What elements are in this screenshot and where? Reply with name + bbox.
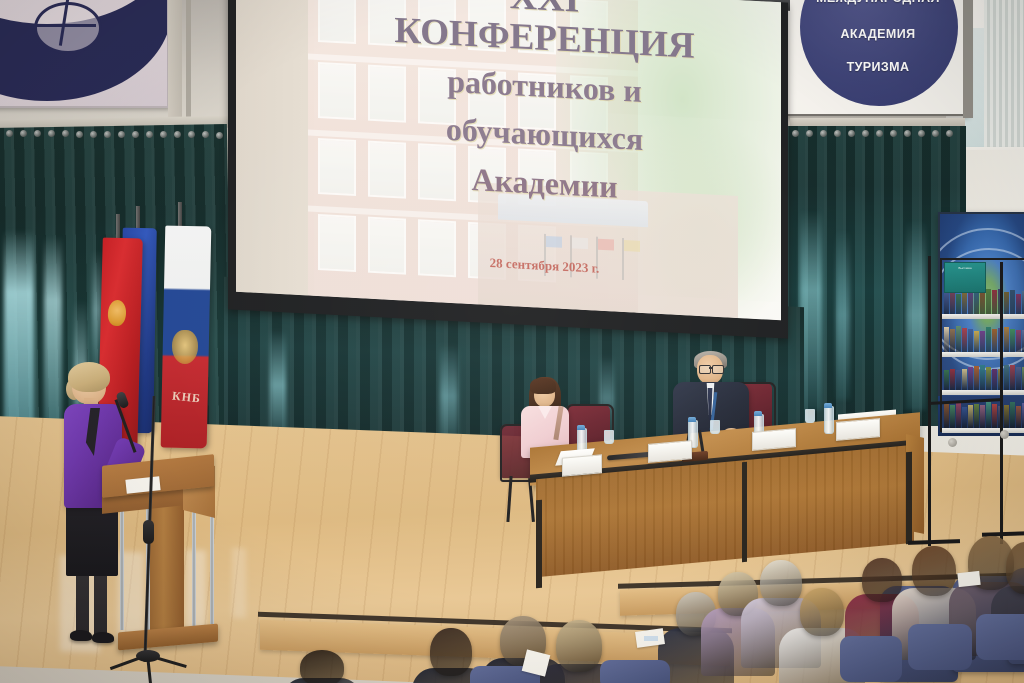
book-spine xyxy=(986,367,991,390)
presidium-table-leg xyxy=(536,500,542,589)
audience-seat-arm xyxy=(908,624,972,670)
microphone-stand-clamp xyxy=(143,520,154,544)
curtain-grommet xyxy=(6,130,13,137)
book-row xyxy=(944,364,1024,390)
book-spine xyxy=(968,291,973,314)
curtain-grommet xyxy=(932,130,939,137)
slide-line-4: Академии xyxy=(308,152,781,214)
book-spine xyxy=(950,369,955,390)
book-spine xyxy=(956,294,961,314)
book-spine xyxy=(944,404,949,428)
display-stand-pole xyxy=(1000,262,1003,544)
curtain-grommet xyxy=(904,130,911,137)
screen-unlit-margin xyxy=(236,0,314,296)
audience-head xyxy=(800,588,844,636)
book-shelf xyxy=(942,390,1024,395)
book-spine xyxy=(974,292,979,314)
audience-seat-arm xyxy=(976,614,1024,660)
book-spine xyxy=(1016,294,1021,314)
book-spine xyxy=(1010,402,1015,428)
conference-hall-photo: МЕЖДУНАРОДНАЯ АКАДЕМИЯ ТУРИЗМА XXI xyxy=(0,0,1024,683)
book-spine xyxy=(992,290,997,314)
window-light-glow xyxy=(270,330,286,441)
book-shelf xyxy=(942,314,1024,319)
curtain-grommet xyxy=(862,130,869,137)
book-spine xyxy=(950,405,955,428)
book-row xyxy=(944,402,1024,428)
book-spine xyxy=(980,290,985,314)
book-row xyxy=(944,326,1024,352)
floor-reflection xyxy=(186,550,206,637)
book-spine xyxy=(944,370,949,390)
curtain-grommet xyxy=(890,130,897,137)
double-headed-eagle-icon xyxy=(172,330,198,364)
tripod-hub xyxy=(136,650,160,662)
book-spine xyxy=(962,328,967,352)
book-spine xyxy=(986,402,991,428)
nameplate-text xyxy=(836,418,880,441)
book-spine xyxy=(956,403,961,428)
eyeglasses-bridge xyxy=(709,367,713,369)
curtain-grommet xyxy=(90,131,97,138)
banner-right-iat: МЕЖДУНАРОДНАЯ АКАДЕМИЯ ТУРИЗМА xyxy=(786,0,970,116)
banner-right-frame-edge xyxy=(963,0,973,118)
caster-wheel xyxy=(1000,430,1009,439)
curtain-grommet xyxy=(918,130,925,137)
presidium-table-leg xyxy=(906,452,912,545)
presidium-table-seam xyxy=(742,462,747,562)
flag-letters: КНБ xyxy=(167,388,205,416)
audience-head xyxy=(556,620,602,672)
banner-line-1: МЕЖДУНАРОДНАЯ xyxy=(788,0,968,5)
book-spine xyxy=(1004,405,1009,428)
curtain-grommet xyxy=(792,130,799,137)
book-shelf xyxy=(942,428,1024,433)
curtain-grommet xyxy=(820,130,827,137)
water-bottle-cap xyxy=(824,403,832,408)
nameplate-text xyxy=(752,428,796,451)
audience-seat-arm xyxy=(600,660,670,683)
book-spine xyxy=(956,326,961,352)
book-spine xyxy=(962,369,967,390)
book-spine xyxy=(1004,327,1009,352)
book-spine xyxy=(1004,365,1009,390)
curtain-grommet xyxy=(216,132,223,139)
book-spine xyxy=(1010,329,1015,352)
window-light-glow xyxy=(906,220,926,410)
book-spine xyxy=(968,367,973,390)
curtain-grommet xyxy=(946,130,953,137)
audience-head xyxy=(300,650,344,683)
book-spine xyxy=(974,331,979,352)
curtain-grommet xyxy=(876,130,883,137)
exhibition-sign: Выставка xyxy=(944,262,986,293)
audience-head xyxy=(430,628,472,676)
book-spine xyxy=(1016,367,1021,390)
book-spine xyxy=(992,404,997,428)
presidium-member-1-hair-front xyxy=(530,378,556,394)
globe-equator-line xyxy=(36,24,96,27)
nameplate-text xyxy=(562,454,602,476)
audience-badge xyxy=(644,636,658,641)
book-spine xyxy=(1016,406,1021,428)
book-spine xyxy=(968,329,973,352)
projection-screen: XXI КОНФЕРЕНЦИЯ работников и обучающихся… xyxy=(236,0,781,320)
book-spine xyxy=(980,331,985,352)
book-spine xyxy=(956,370,961,390)
speaker-hair xyxy=(68,362,110,392)
window-light-glow xyxy=(836,230,850,400)
book-spine xyxy=(980,405,985,428)
banner-line-3: ТУРИЗМА xyxy=(788,60,968,74)
speaker-shoe xyxy=(92,632,114,643)
banner-support-post xyxy=(168,0,182,128)
book-spine xyxy=(992,329,997,352)
book-spine xyxy=(974,404,979,428)
book-spine xyxy=(950,329,955,352)
curtain-grommet xyxy=(104,131,111,138)
book-spine xyxy=(944,293,949,314)
book-shelf xyxy=(942,352,1024,357)
curtain-grommet xyxy=(146,131,153,138)
nameplate-text xyxy=(648,440,692,463)
podium-column xyxy=(150,500,184,640)
banner-support-post-shadow xyxy=(186,0,191,128)
book-spine xyxy=(1004,292,1009,314)
banner-circle-shape xyxy=(800,0,958,106)
globe-icon xyxy=(34,2,102,54)
floor-reflection xyxy=(232,548,246,619)
vertical-blinds xyxy=(984,0,1024,160)
podium-leg xyxy=(192,498,196,628)
water-bottle-cap xyxy=(754,411,762,416)
speaker-leg xyxy=(94,572,107,638)
banner-left-emblem xyxy=(0,0,169,108)
water-bottle-cap xyxy=(688,417,696,422)
podium-leg xyxy=(120,500,124,630)
book-spine xyxy=(980,365,985,390)
curtain-grommet xyxy=(132,131,139,138)
audience-paper xyxy=(957,571,980,587)
slide-text-block: XXI КОНФЕРЕНЦИЯ работников и обучающихся… xyxy=(308,0,781,320)
audience-head xyxy=(760,560,802,606)
banner-line-2: АКАДЕМИЯ xyxy=(788,27,968,41)
book-spine xyxy=(986,289,991,314)
water-bottle xyxy=(824,406,834,434)
book-spine xyxy=(944,327,949,352)
curtain-grommet xyxy=(848,130,855,137)
curtain-grommet xyxy=(834,130,841,137)
curtain-grommet xyxy=(118,131,125,138)
book-spine xyxy=(1016,330,1021,352)
book-spine xyxy=(986,327,991,352)
book-spine xyxy=(962,407,967,428)
curtain-grommet xyxy=(806,130,813,137)
book-spine xyxy=(968,405,973,428)
book-spine xyxy=(974,366,979,390)
book-spine xyxy=(992,369,997,390)
drinking-glass xyxy=(710,420,720,434)
speaker-leg xyxy=(76,570,89,636)
audience-seat-arm xyxy=(840,636,902,682)
drinking-glass xyxy=(805,409,815,423)
eyeglasses-icon xyxy=(712,365,724,374)
curtain-grommet xyxy=(76,131,83,138)
audience-head xyxy=(912,546,956,596)
drinking-glass xyxy=(604,430,614,444)
slide-date: 28 сентября 2023 г. xyxy=(308,245,781,286)
caster-wheel xyxy=(948,438,957,447)
book-spine xyxy=(1010,365,1015,390)
book-spine xyxy=(1010,290,1015,314)
water-bottle-cap xyxy=(577,425,585,430)
speaker-shoe xyxy=(70,630,92,641)
